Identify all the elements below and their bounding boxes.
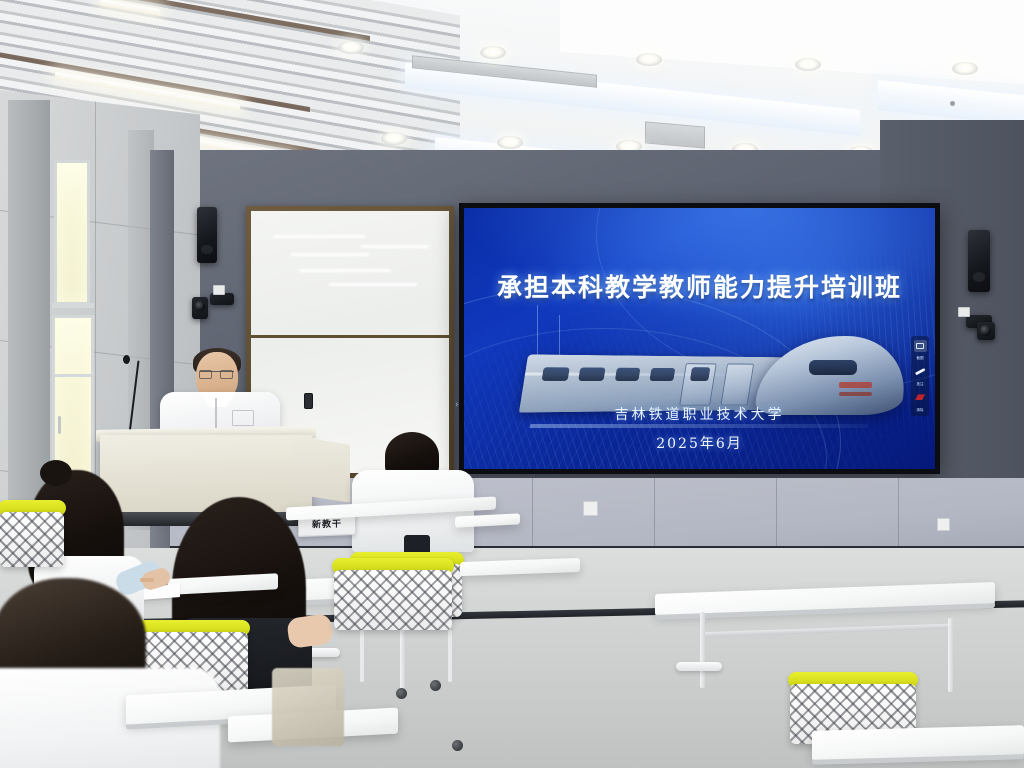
wall-outlet-icon [937, 518, 950, 531]
pen-label: 批注 [917, 383, 924, 387]
screenshot-icon[interactable] [914, 340, 927, 352]
chair[interactable] [334, 558, 452, 654]
chair-caster [430, 680, 441, 691]
wall-speaker-right-icon [968, 230, 990, 292]
wall-sensor-right [958, 307, 970, 317]
wall-speaker-left-icon [197, 207, 217, 263]
chair-backrest [0, 512, 64, 567]
microphone-head-icon [123, 355, 130, 364]
slide-organization: 吉林铁道职业技术大学 [464, 404, 935, 424]
downlight [497, 136, 523, 149]
chair-armrest [676, 662, 722, 671]
screen-annotation-toolbar[interactable]: 截图 批注 清除 [911, 336, 929, 416]
ptz-camera-left-icon [192, 297, 208, 319]
table-leg [700, 612, 705, 688]
ceiling-sensor [950, 101, 955, 106]
screen-surface[interactable]: 承担本科教学教师能力提升培训班 吉林铁道职业技术大学 2025年6月 截图 批注… [464, 208, 935, 469]
screen-edge-chevron-icon: › [455, 400, 459, 410]
chair-caster [452, 740, 463, 751]
attendee-bracelet [140, 578, 154, 582]
screenshot-label: 截图 [917, 357, 924, 361]
whiteboard-sensor-icon [304, 393, 313, 409]
whiteboard-divider [251, 335, 449, 338]
downlight [795, 58, 821, 71]
lectern-side-shelf [290, 435, 350, 503]
slide-date: 2025年6月 [464, 433, 935, 453]
downlight [338, 41, 364, 54]
window-upper-left [54, 160, 90, 305]
window-mullion [52, 303, 94, 308]
slide-title: 承担本科教学教师能力提升培训班 [464, 268, 935, 304]
wall-outlet-icon [583, 501, 598, 516]
downlight [480, 46, 506, 59]
wall-sensor-left [213, 285, 225, 295]
attendee-bag-foreground [272, 668, 344, 746]
led-video-wall[interactable]: 承担本科教学教师能力提升培训班 吉林铁道职业技术大学 2025年6月 截图 批注… [459, 203, 940, 474]
downlight [952, 62, 978, 75]
lecture-hall-photo: 承担本科教学教师能力提升培训班 吉林铁道职业技术大学 2025年6月 截图 批注… [0, 0, 1024, 768]
eraser-label: 清除 [917, 409, 924, 413]
table-right-front[interactable] [812, 725, 1024, 761]
lectern [100, 435, 312, 513]
ptz-camera-right-icon [977, 322, 995, 340]
chair[interactable] [0, 500, 64, 588]
train-rail [529, 424, 868, 428]
chair-backrest [334, 570, 452, 630]
attendee-hair-bun [40, 460, 72, 486]
downlight [381, 132, 407, 145]
eyeglasses-icon [200, 371, 234, 379]
eraser-icon[interactable] [914, 391, 927, 403]
table-caster [396, 688, 407, 699]
presenter-shirt-pocket [232, 410, 254, 426]
table-leg [948, 618, 953, 692]
pen-icon[interactable] [914, 366, 927, 378]
downlight [636, 53, 662, 66]
